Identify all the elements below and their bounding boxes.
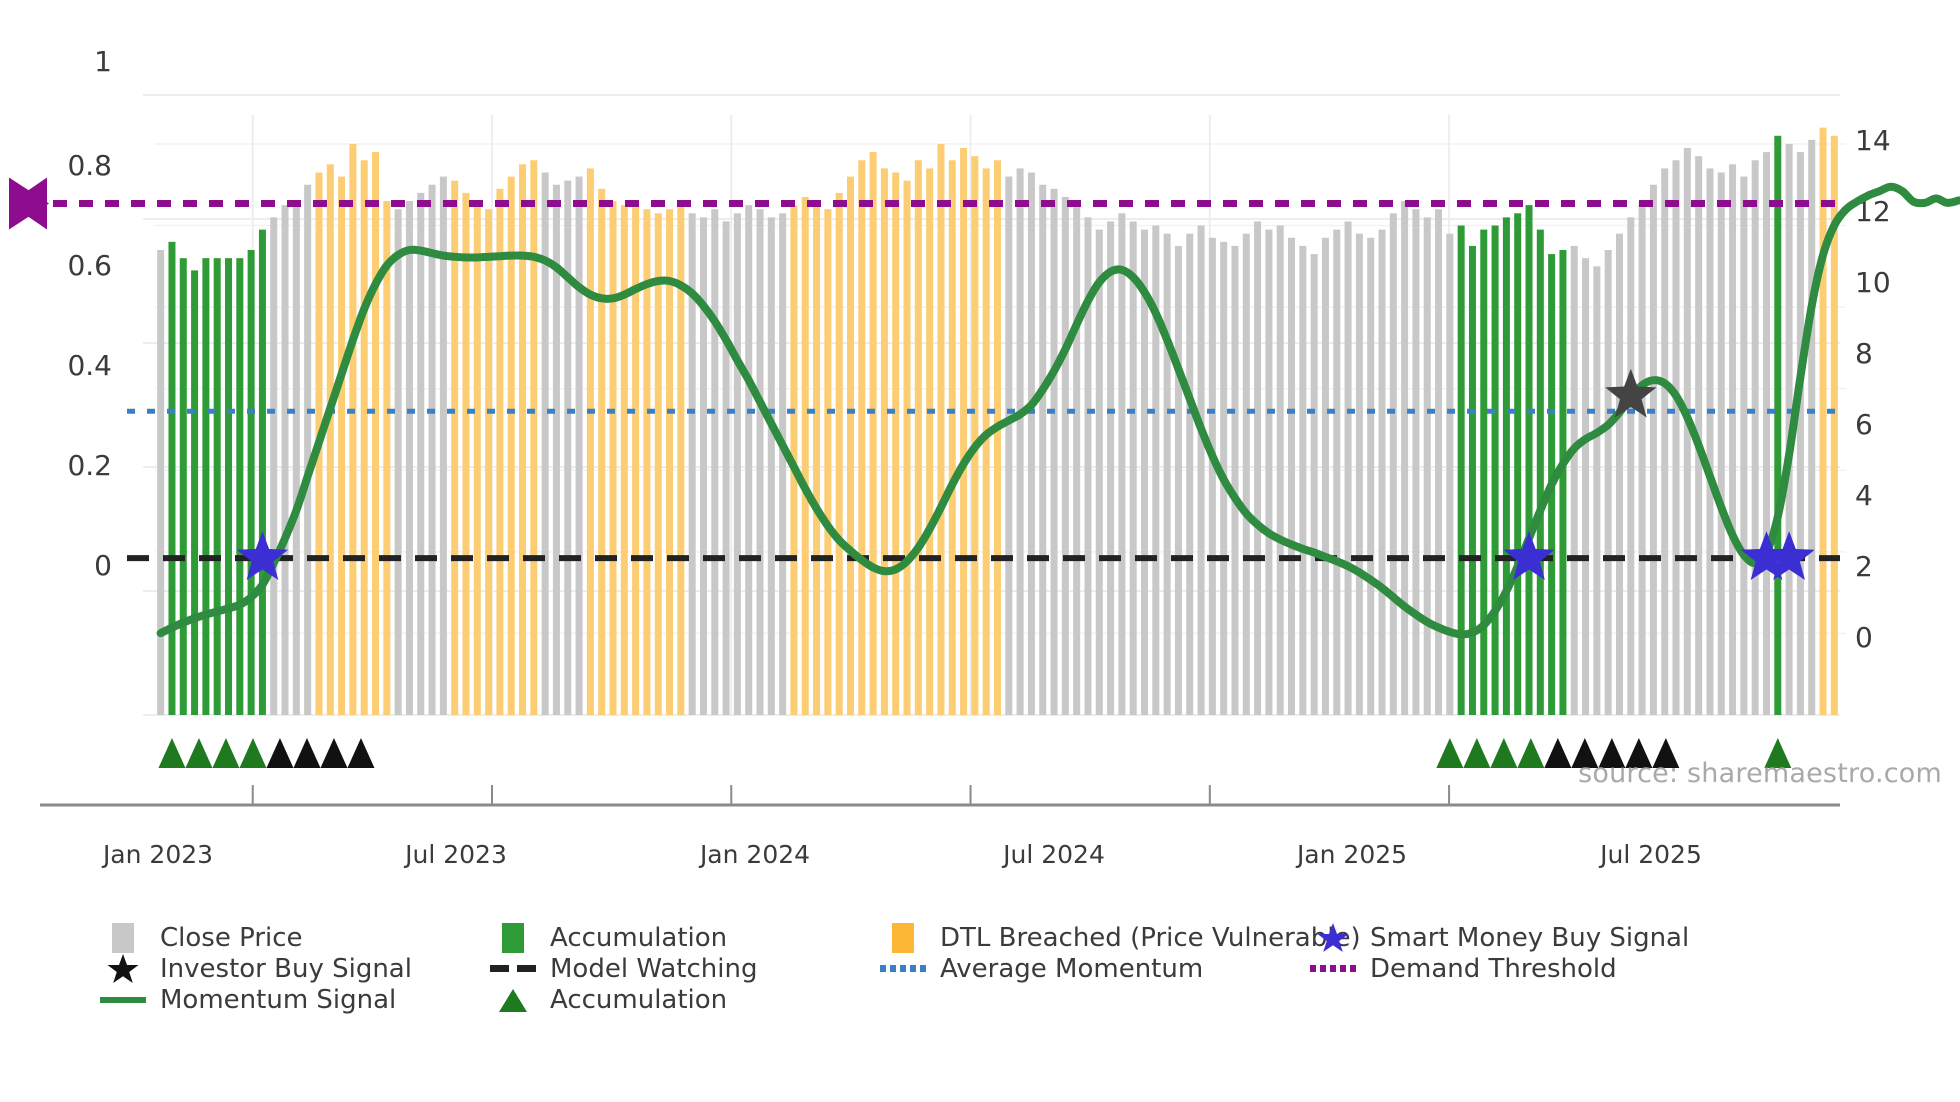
legend-item-accumulation-marker[interactable]: Accumulation <box>490 984 880 1015</box>
star-icon <box>100 953 146 984</box>
legend-label: Close Price <box>160 925 303 951</box>
legend-label: Model Watching <box>550 956 757 982</box>
y-axis-right-tick: 0 <box>1855 624 1945 652</box>
y-axis-right-tick: 4 <box>1855 482 1945 510</box>
legend-item-close-price[interactable]: Close Price <box>100 922 490 953</box>
source-attribution: source: sharemaestro.com <box>1578 758 1942 789</box>
y-axis-right-tick: 8 <box>1855 340 1945 368</box>
legend-item-demand-threshold[interactable]: Demand Threshold <box>1310 953 1740 984</box>
legend-item-momentum-signal[interactable]: Momentum Signal <box>100 984 490 1015</box>
legend-item-smart-money-buy-signal[interactable]: Smart Money Buy Signal <box>1310 922 1740 953</box>
chart-legend: Close Price Accumulation DTL Breached (P… <box>100 922 1890 1015</box>
y-axis-left-tick: 0.6 <box>0 252 112 280</box>
legend-label: Investor Buy Signal <box>160 956 412 982</box>
legend-label: Average Momentum <box>940 956 1203 982</box>
x-axis-tick: Jul 2024 <box>934 842 1174 867</box>
dotted-line-icon <box>1310 953 1356 984</box>
star-icon <box>1310 922 1356 953</box>
y-axis-right-tick: 6 <box>1855 411 1945 439</box>
solid-line-icon <box>100 984 146 1015</box>
y-axis-left-tick: 0.4 <box>0 352 112 380</box>
legend-label: Demand Threshold <box>1370 956 1617 982</box>
y-axis-left-tick: 0 <box>0 552 112 580</box>
y-axis-left-tick: 1 <box>0 48 112 76</box>
y-axis-right-tick: 14 <box>1855 127 1945 155</box>
legend-item-average-momentum[interactable]: Average Momentum <box>880 953 1310 984</box>
legend-label: Momentum Signal <box>160 987 396 1013</box>
dotted-line-icon <box>880 953 926 984</box>
chart-root: 1 0.8 0.6 0.4 0.2 0 14 12 10 8 6 4 2 0 J… <box>0 0 1960 1102</box>
y-axis-right-tick: 2 <box>1855 553 1945 581</box>
y-axis-right-tick: 12 <box>1855 198 1945 226</box>
legend-item-accumulation-bar[interactable]: Accumulation <box>490 922 880 953</box>
legend-label: Accumulation <box>550 925 727 951</box>
legend-item-investor-buy-signal[interactable]: Investor Buy Signal <box>100 953 490 984</box>
y-axis-left-tick: 0.2 <box>0 452 112 480</box>
close-price-swatch-icon <box>100 922 146 953</box>
x-axis-tick: Jul 2023 <box>336 842 576 867</box>
legend-item-dtl-breached[interactable]: DTL Breached (Price Vulnerable) <box>880 922 1310 953</box>
x-axis-tick: Jan 2025 <box>1232 842 1472 867</box>
triangle-icon <box>490 984 536 1015</box>
x-axis-tick: Jul 2025 <box>1531 842 1771 867</box>
dtl-breached-swatch-icon <box>880 922 926 953</box>
x-axis-tick: Jan 2023 <box>38 842 278 867</box>
legend-item-model-watching[interactable]: Model Watching <box>490 953 880 984</box>
legend-label: Smart Money Buy Signal <box>1370 925 1689 951</box>
x-axis-tick: Jan 2024 <box>635 842 875 867</box>
legend-label: DTL Breached (Price Vulnerable) <box>940 925 1361 951</box>
y-axis-left-tick: 0.8 <box>0 152 112 180</box>
accumulation-swatch-icon <box>490 922 536 953</box>
dashed-line-icon <box>490 953 536 984</box>
y-axis-right-tick: 10 <box>1855 269 1945 297</box>
legend-label: Accumulation <box>550 987 727 1013</box>
